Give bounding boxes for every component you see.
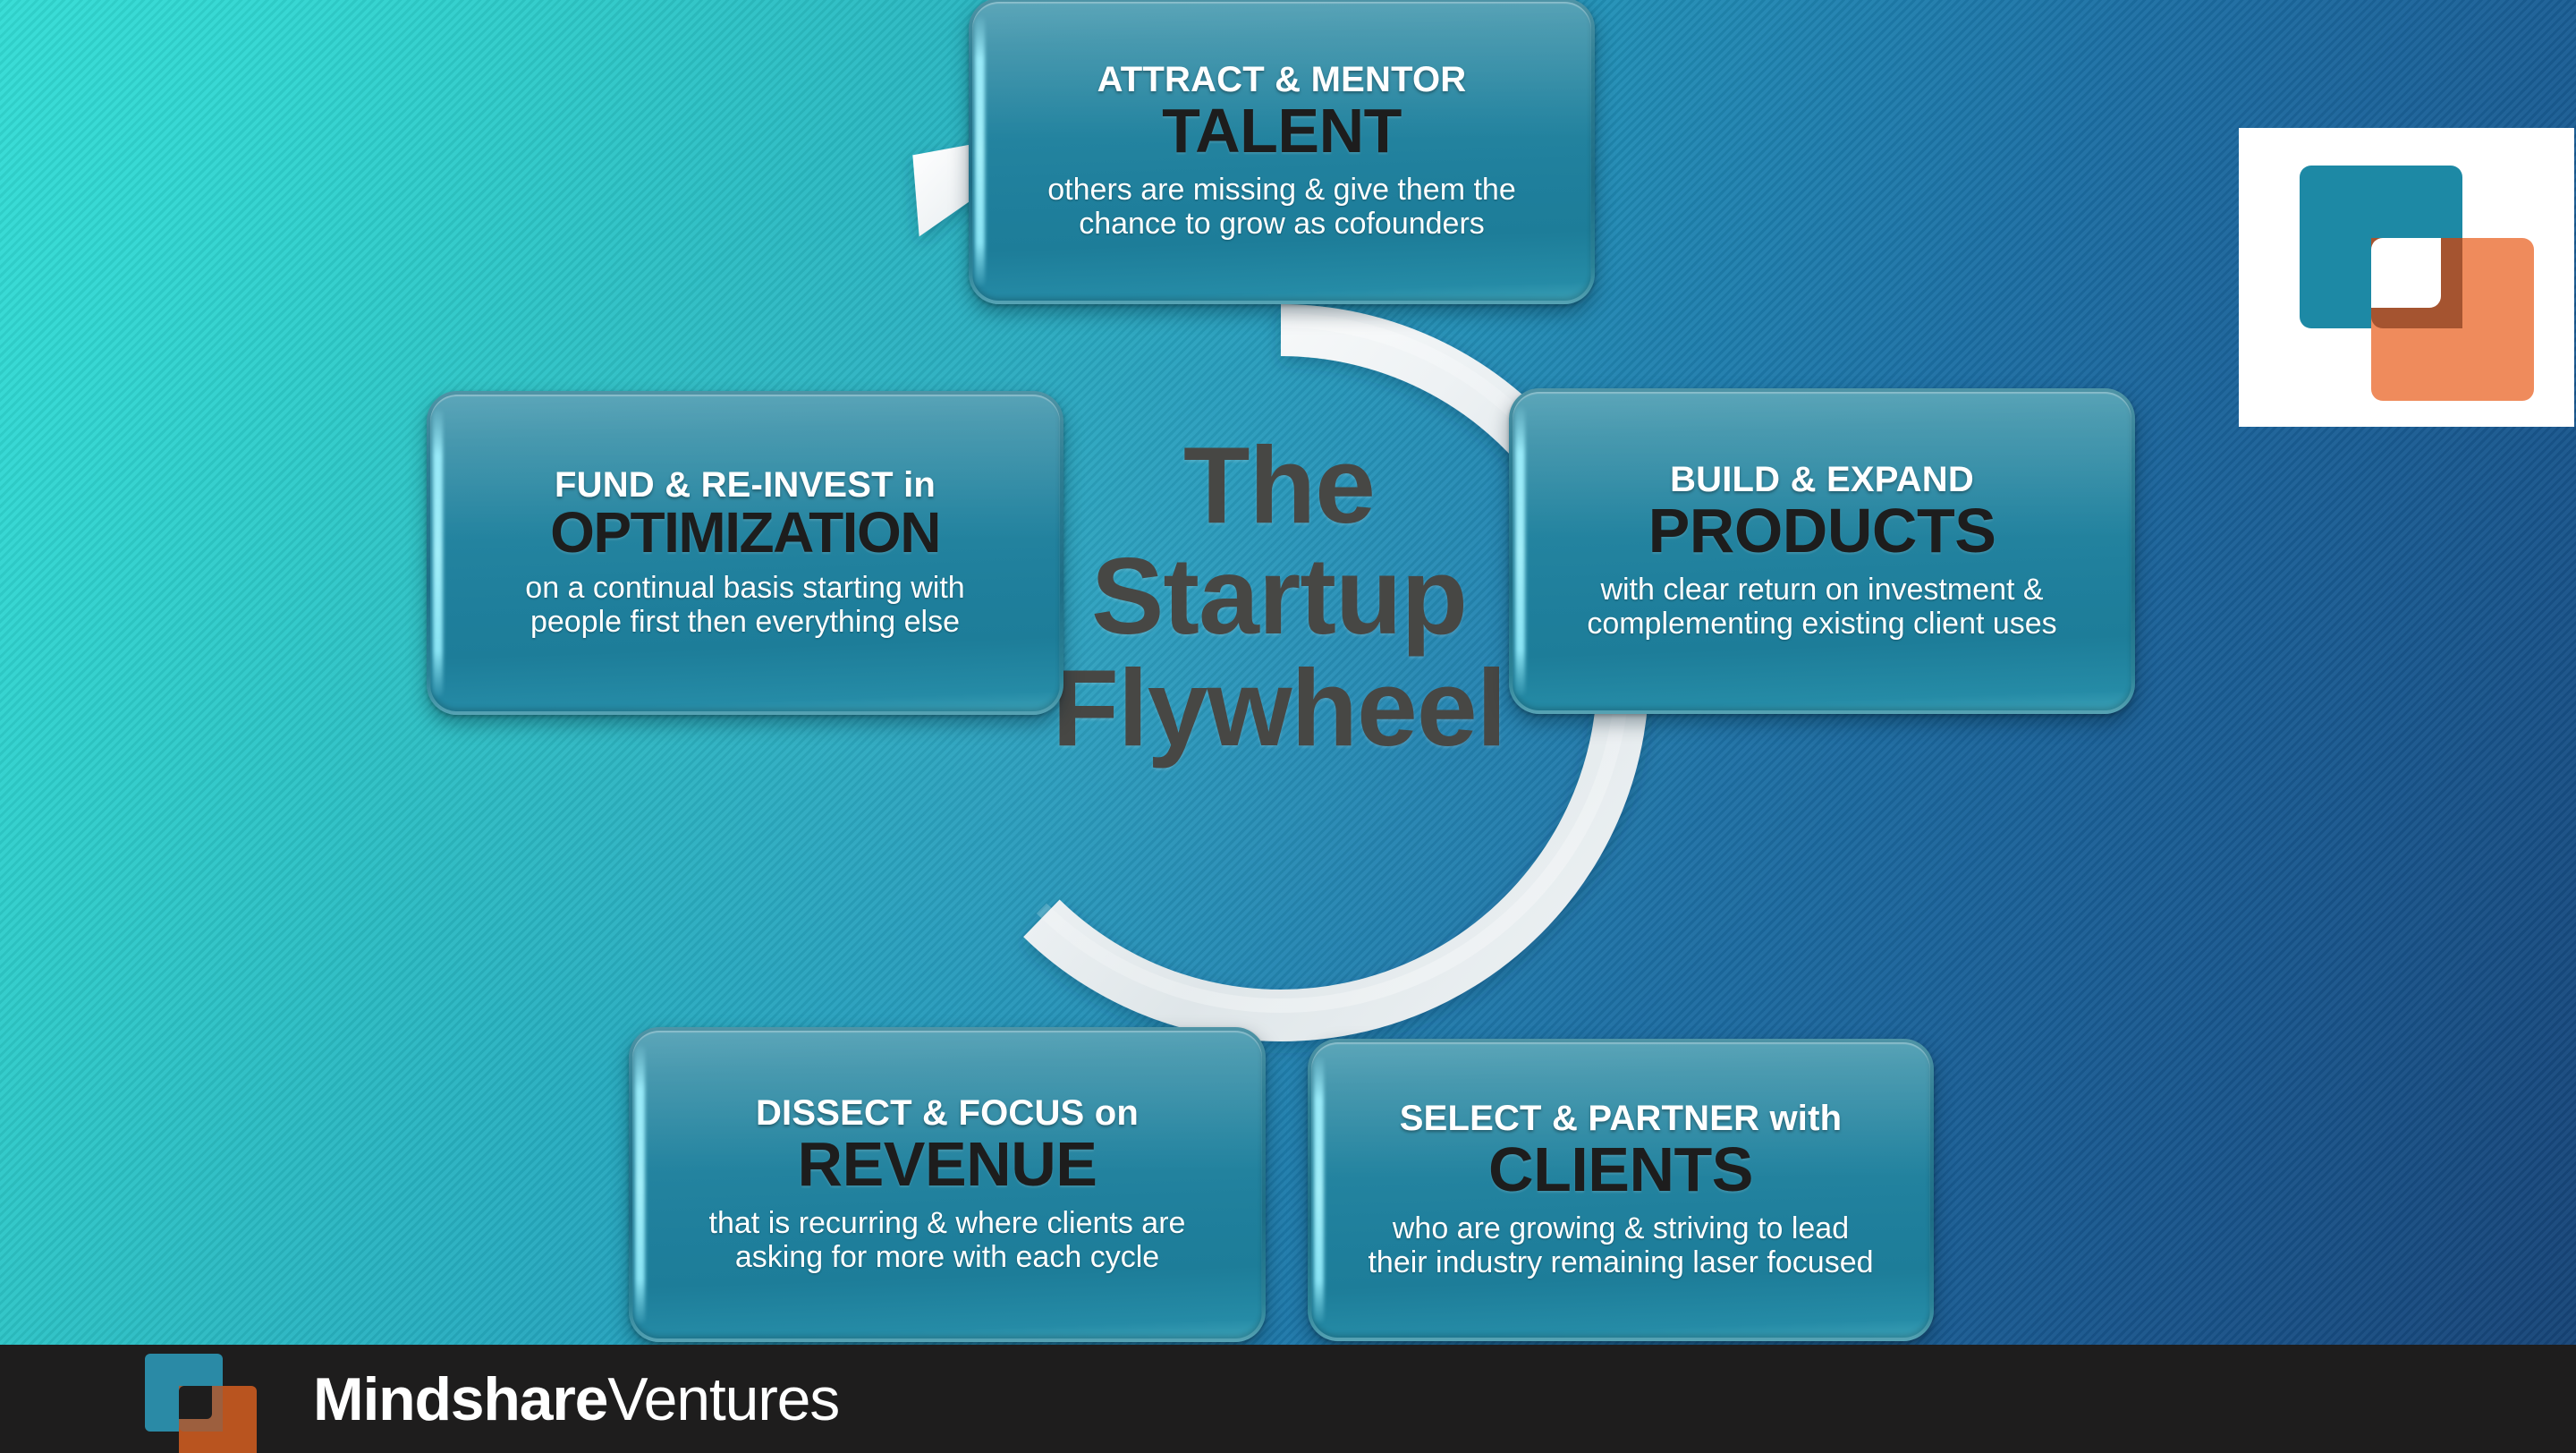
flywheel-node-clients-surface: SELECT & PARTNER with CLIENTS who are gr… (1311, 1042, 1930, 1338)
flywheel-node-products[interactable]: BUILD & EXPAND PRODUCTS with clear retur… (1509, 388, 2135, 714)
node-subtitle-line-2: chance to grow as cofounders (988, 207, 1575, 241)
flywheel-node-optimization-surface: FUND & RE-INVEST in OPTIMIZATION on a co… (430, 395, 1060, 711)
node-eyebrow: FUND & RE-INVEST in (446, 467, 1044, 503)
node-keyword: TALENT (988, 98, 1575, 164)
flywheel-node-talent-text: ATTRACT & MENTOR TALENT others are missi… (972, 62, 1591, 240)
flywheel-node-optimization-text: FUND & RE-INVEST in OPTIMIZATION on a co… (430, 467, 1060, 640)
node-keyword: PRODUCTS (1529, 497, 2115, 564)
node-keyword: CLIENTS (1327, 1136, 1914, 1202)
node-eyebrow: BUILD & EXPAND (1529, 462, 2115, 497)
node-subtitle-line-2: asking for more with each cycle (648, 1240, 1246, 1274)
footer-brand-name-bold: Mindshare (313, 1365, 607, 1433)
footer-brand-name-regular: Ventures (607, 1365, 839, 1433)
node-subtitle-line-1: on a continual basis starting with (446, 571, 1044, 605)
node-keyword: REVENUE (648, 1131, 1246, 1197)
node-subtitle-line-1: with clear return on investment & (1529, 573, 2115, 607)
brand-logo-card (2239, 128, 2574, 427)
flywheel-node-clients-text: SELECT & PARTNER with CLIENTS who are gr… (1311, 1100, 1930, 1279)
flywheel-node-revenue-text: DISSECT & FOCUS on REVENUE that is recur… (632, 1095, 1262, 1273)
flywheel-node-revenue-surface: DISSECT & FOCUS on REVENUE that is recur… (632, 1031, 1262, 1338)
node-subtitle-line-2: people first then everything else (446, 605, 1044, 639)
flywheel-node-products-text: BUILD & EXPAND PRODUCTS with clear retur… (1513, 462, 2131, 640)
footer-bar: MindshareVentures (0, 1345, 2576, 1453)
node-keyword: OPTIMIZATION (446, 503, 1044, 564)
node-eyebrow: ATTRACT & MENTOR (988, 62, 1575, 98)
flywheel-node-revenue[interactable]: DISSECT & FOCUS on REVENUE that is recur… (629, 1027, 1266, 1342)
flywheel-node-clients[interactable]: SELECT & PARTNER with CLIENTS who are gr… (1308, 1039, 1934, 1341)
footer-brand-logo-icon (145, 1352, 279, 1446)
node-eyebrow: SELECT & PARTNER with (1327, 1100, 1914, 1136)
node-subtitle-line-1: others are missing & give them the (988, 173, 1575, 207)
node-subtitle-line-1: that is recurring & where clients are (648, 1206, 1246, 1240)
flywheel-node-talent-surface: ATTRACT & MENTOR TALENT others are missi… (972, 2, 1591, 301)
slide-canvas: The Startup Flywheel ATTRACT & MENTOR TA… (0, 0, 2576, 1453)
flywheel-node-optimization[interactable]: FUND & RE-INVEST in OPTIMIZATION on a co… (427, 391, 1063, 715)
flywheel-node-talent[interactable]: ATTRACT & MENTOR TALENT others are missi… (969, 0, 1595, 304)
logo-notch-icon (2371, 238, 2441, 308)
flywheel-node-products-surface: BUILD & EXPAND PRODUCTS with clear retur… (1513, 392, 2131, 710)
node-subtitle-line-2: their industry remaining laser focused (1327, 1245, 1914, 1279)
footer-brand-name: MindshareVentures (313, 1369, 839, 1430)
node-eyebrow: DISSECT & FOCUS on (648, 1095, 1246, 1131)
footer-logo-notch-icon (179, 1386, 212, 1419)
node-subtitle-line-2: complementing existing client uses (1529, 607, 2115, 641)
node-subtitle-line-1: who are growing & striving to lead (1327, 1211, 1914, 1245)
